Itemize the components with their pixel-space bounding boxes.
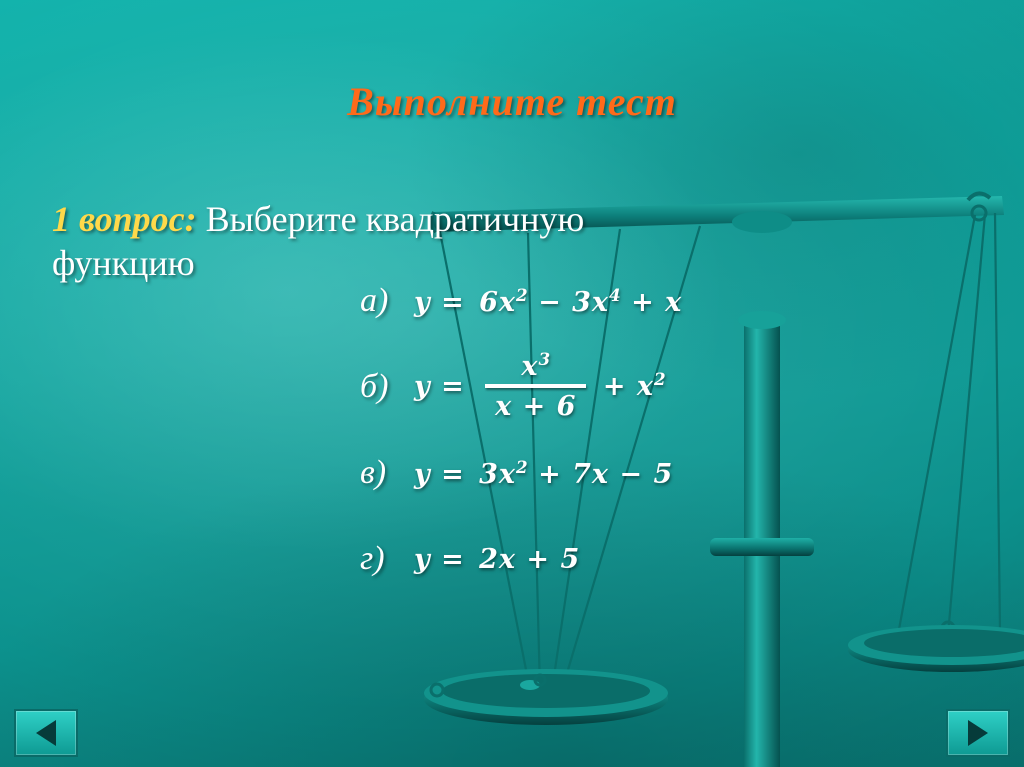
option-b-lead: y = bbox=[414, 371, 465, 402]
option-a-term2: 3x bbox=[572, 287, 609, 318]
option-a-op1: − bbox=[538, 287, 562, 318]
option-a-op2: + bbox=[631, 287, 655, 318]
option-v-term2: 7x bbox=[572, 459, 609, 490]
option-g-formula: y = 2x + 5 bbox=[414, 544, 580, 575]
option-g-lead: y = bbox=[414, 544, 465, 575]
option-a[interactable]: а) y = 6x2 − 3x4 + x bbox=[360, 258, 980, 344]
option-v-lead: y = bbox=[414, 459, 465, 490]
option-b-numerator: x3 bbox=[511, 349, 560, 384]
triangle-right-icon bbox=[968, 720, 988, 746]
option-g[interactable]: г) y = 2x + 5 bbox=[360, 516, 980, 602]
scale-pan-left bbox=[424, 669, 668, 725]
option-a-term1: 6x bbox=[479, 287, 516, 318]
option-b-num-base: x bbox=[521, 351, 538, 382]
option-v-formula: y = 3x2 + 7x − 5 bbox=[414, 457, 673, 490]
page-title: Выполните тест bbox=[0, 78, 1024, 125]
previous-slide-button[interactable] bbox=[14, 709, 78, 757]
option-v-term1: 3x bbox=[479, 459, 516, 490]
option-g-term2: 5 bbox=[560, 544, 580, 575]
triangle-left-icon bbox=[36, 720, 56, 746]
answer-options-list: а) y = 6x2 − 3x4 + x б) y = x3 x + 6 + x… bbox=[360, 258, 980, 602]
next-slide-button[interactable] bbox=[946, 709, 1010, 757]
option-v-op1: + bbox=[538, 459, 562, 490]
option-b-letter: б) bbox=[360, 368, 414, 406]
option-b-formula: y = x3 x + 6 + x2 bbox=[414, 351, 666, 424]
slide-canvas: Выполните тест 1 вопрос: Выберите квадра… bbox=[0, 0, 1024, 767]
option-b-op: + bbox=[603, 371, 627, 402]
scale-pan-right bbox=[848, 625, 1024, 672]
option-g-op1: + bbox=[526, 544, 550, 575]
question-label: 1 вопрос: bbox=[52, 199, 197, 239]
option-a-pow2: 4 bbox=[609, 285, 621, 305]
option-a-formula: y = 6x2 − 3x4 + x bbox=[414, 285, 682, 318]
option-b-tail: x bbox=[637, 371, 654, 402]
option-g-letter: г) bbox=[360, 540, 414, 578]
option-a-lead: y = bbox=[414, 287, 465, 318]
option-v-op2: − bbox=[619, 459, 643, 490]
option-g-term1: 2x bbox=[479, 544, 516, 575]
option-a-term3: x bbox=[665, 287, 682, 318]
option-v-letter: в) bbox=[360, 454, 414, 492]
option-b-denominator: x + 6 bbox=[485, 388, 586, 422]
option-b-num-pow: 3 bbox=[539, 349, 551, 369]
option-v-term3: 5 bbox=[653, 459, 673, 490]
option-b-tail-pow: 2 bbox=[654, 369, 666, 389]
option-b-fraction: x3 x + 6 bbox=[485, 349, 586, 422]
option-a-letter: а) bbox=[360, 282, 414, 320]
option-a-pow1: 2 bbox=[516, 285, 528, 305]
option-v[interactable]: в) y = 3x2 + 7x − 5 bbox=[360, 430, 980, 516]
option-b[interactable]: б) y = x3 x + 6 + x2 bbox=[360, 344, 980, 430]
option-v-pow1: 2 bbox=[516, 457, 528, 477]
